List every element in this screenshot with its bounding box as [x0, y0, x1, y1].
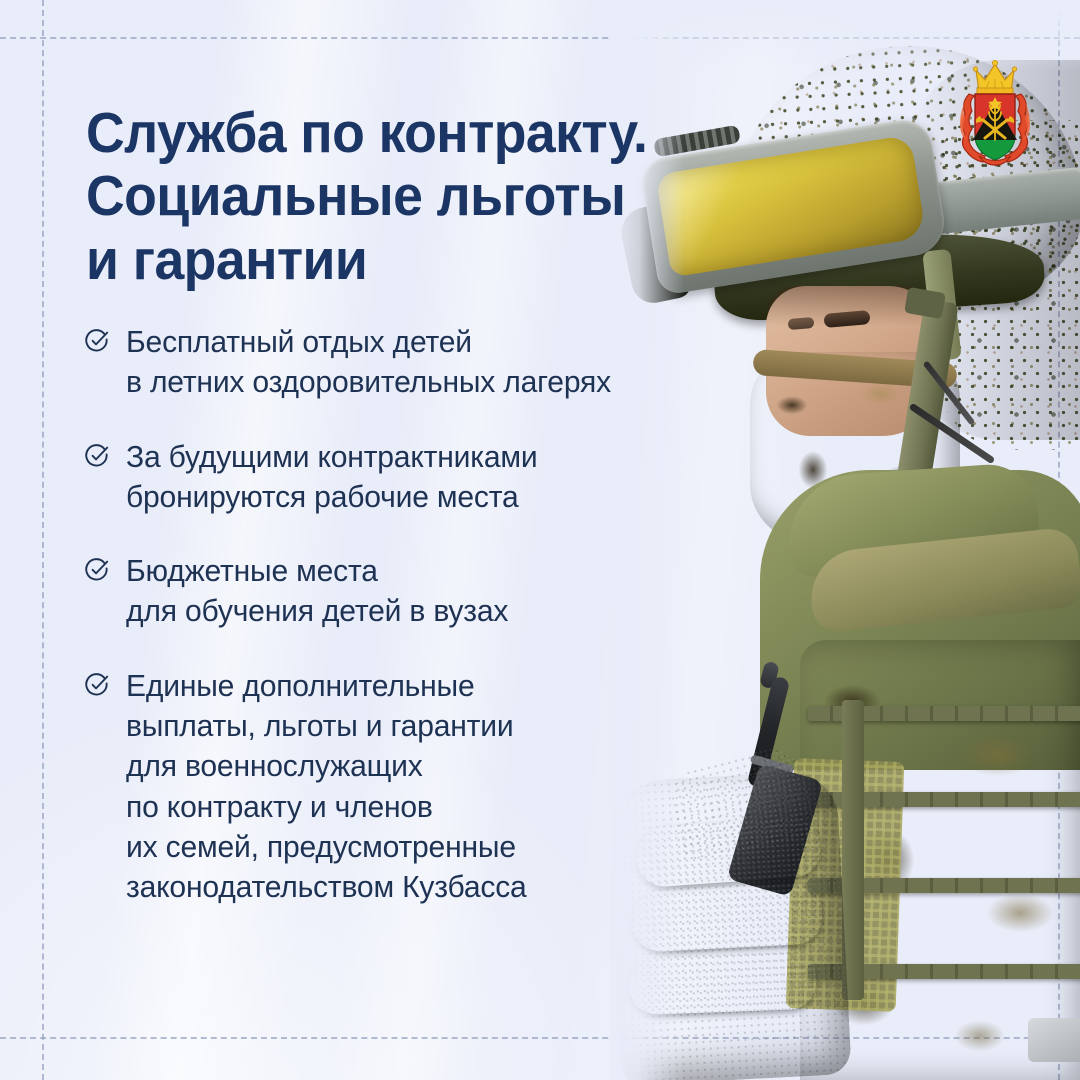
title-line: Служба по контракту. [86, 102, 819, 165]
circle-check-icon [84, 557, 110, 583]
benefit-item-4: Единые дополнительные выплаты, льготы и … [84, 666, 784, 908]
vest-badge [1028, 1018, 1080, 1062]
benefit-item-3: Бюджетные места для обучения детей в вуз… [84, 551, 784, 632]
benefit-text: За будущими контрактниками бронируются р… [126, 437, 537, 518]
benefit-line: в летних оздоровительных лагерях [126, 362, 611, 402]
benefit-line: Бесплатный отдых детей [126, 322, 611, 362]
page-title: Служба по контракту. Социальные льготы и… [86, 102, 819, 292]
title-line: и гарантии [86, 229, 819, 292]
benefit-text: Бесплатный отдых детей в летних оздорови… [126, 322, 611, 403]
benefit-line: Бюджетные места [126, 551, 508, 591]
benefit-line: для военнослужащих [126, 746, 527, 786]
poster-canvas: Служба по контракту. Социальные льготы и… [0, 0, 1080, 1080]
benefit-line: выплаты, льготы и гарантии [126, 706, 527, 746]
coat-of-arms-kuzbass-icon [955, 58, 1035, 166]
benefit-line: За будущими контрактниками [126, 437, 537, 477]
benefits-list: Бесплатный отдых детей в летних оздорови… [84, 322, 784, 942]
benefit-text: Бюджетные места для обучения детей в вуз… [126, 551, 508, 632]
benefit-line: бронируются рабочие места [126, 477, 537, 517]
circle-check-icon [84, 328, 110, 354]
benefit-text: Единые дополнительные выплаты, льготы и … [126, 666, 527, 908]
benefit-line: для обучения детей в вузах [126, 591, 508, 631]
circle-check-icon [84, 443, 110, 469]
benefit-item-1: Бесплатный отдых детей в летних оздорови… [84, 322, 784, 403]
benefit-line: законодательством Кузбасса [126, 867, 527, 907]
benefit-line: по контракту и членов [126, 787, 527, 827]
benefit-line: их семей, предусмотренные [126, 827, 527, 867]
benefit-line: Единые дополнительные [126, 666, 527, 706]
circle-check-icon [84, 672, 110, 698]
benefit-item-2: За будущими контрактниками бронируются р… [84, 437, 784, 518]
title-line: Социальные льготы [86, 165, 819, 228]
